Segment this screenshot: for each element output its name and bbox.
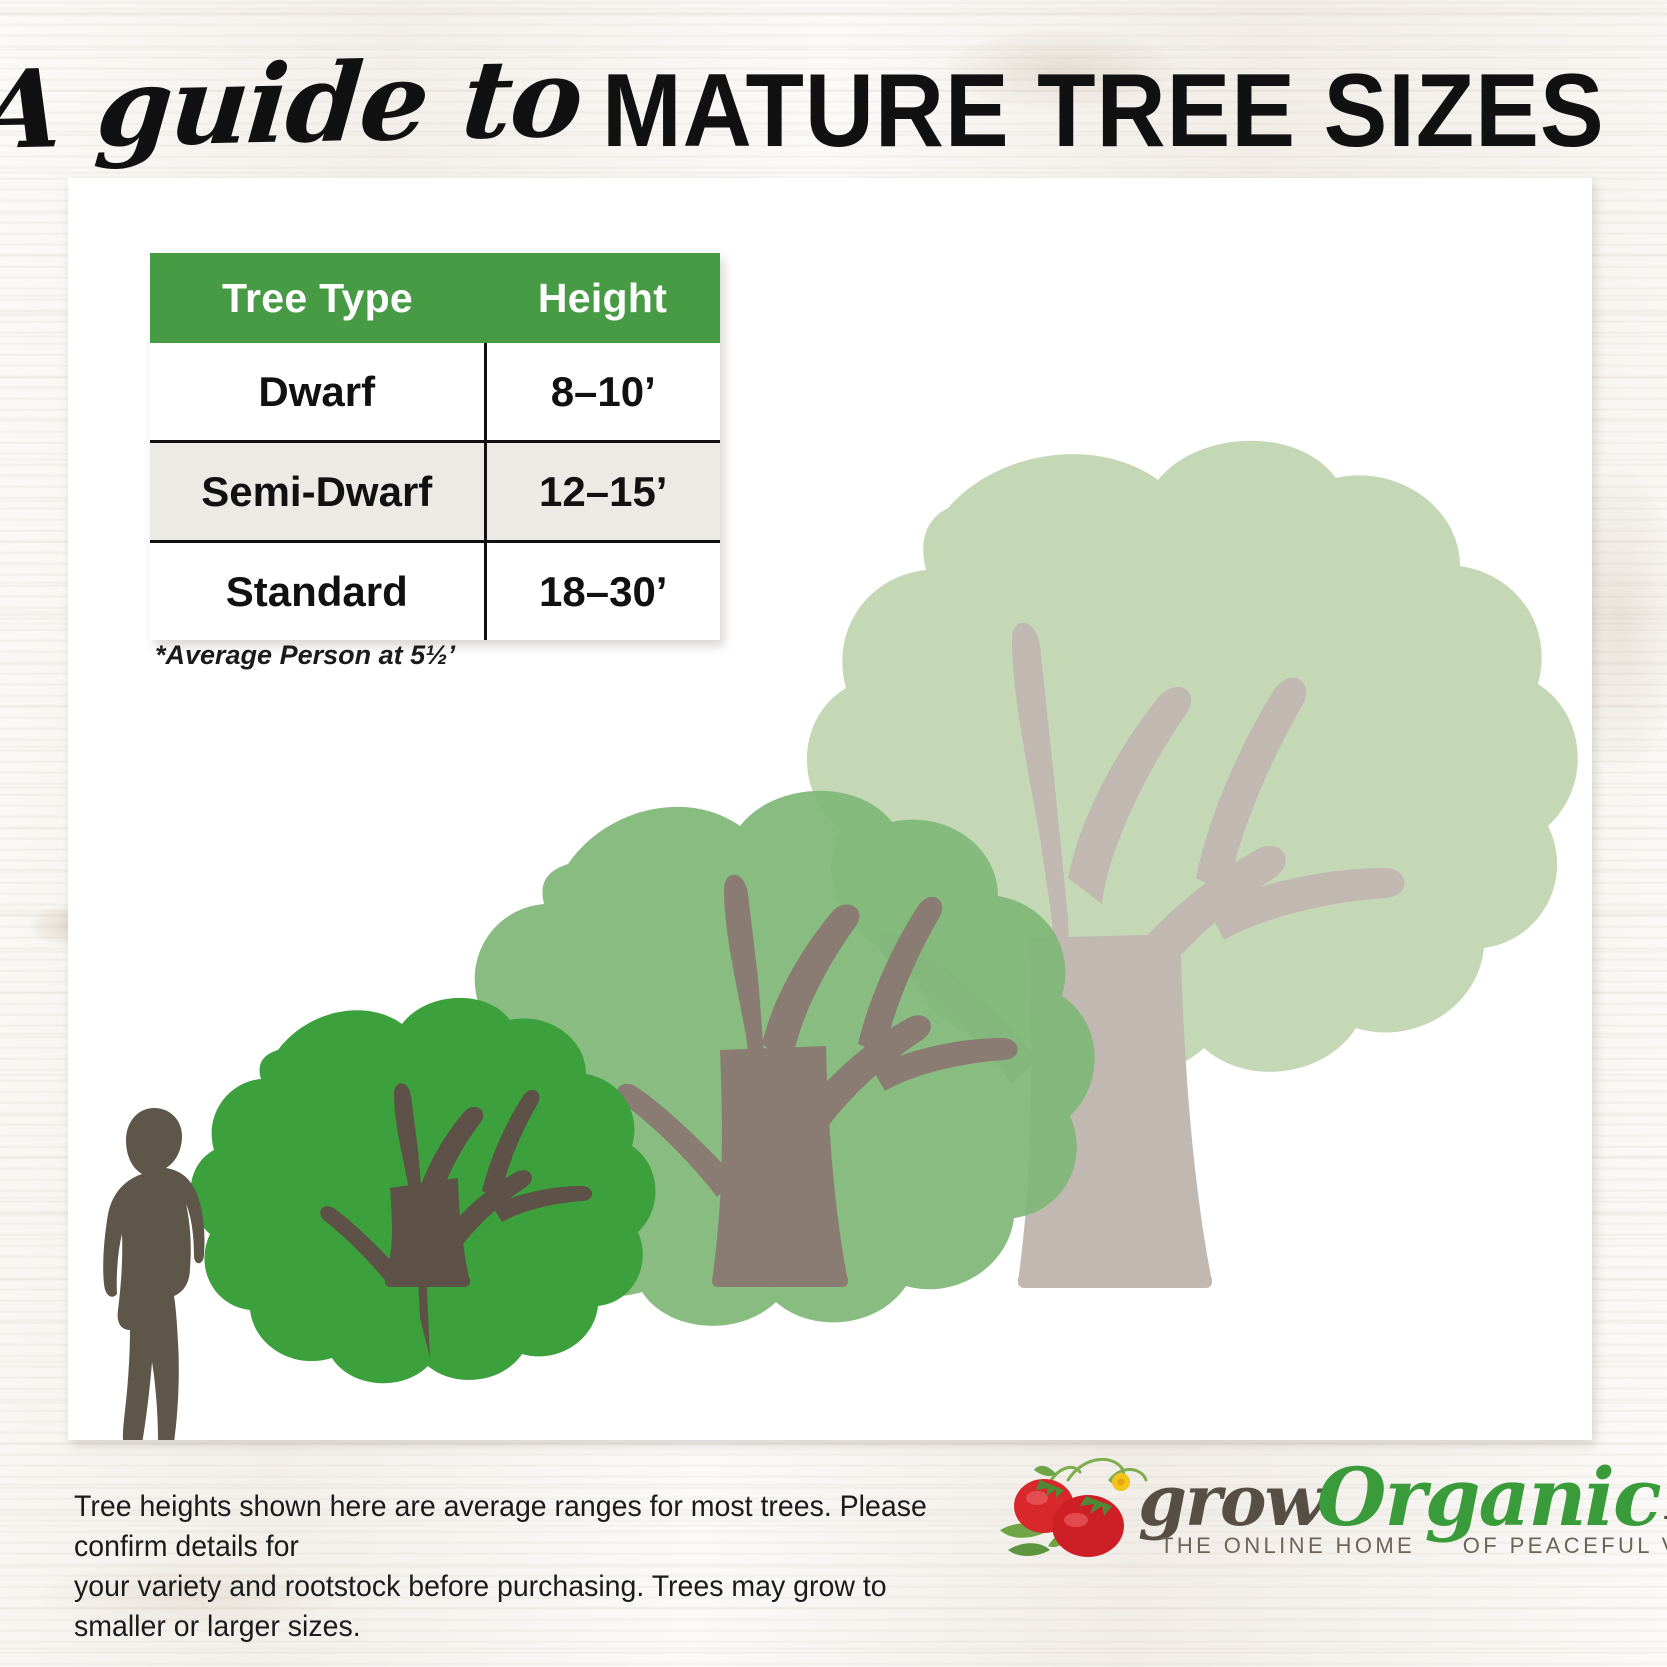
table-row: Dwarf 8–10’ [150, 343, 720, 442]
table-header-row: Tree Type Height [150, 253, 720, 343]
table-footnote: *Average Person at 5½’ [155, 640, 455, 671]
title-script-part: A guide to [0, 44, 586, 165]
disclaimer-text: Tree heights shown here are average rang… [74, 1487, 929, 1647]
disclaimer-line-2: your variety and rootstock before purcha… [74, 1567, 929, 1647]
tomato-icon [990, 1438, 1160, 1568]
brand-logo[interactable]: growOrganic.COM THE ONLINE HOME OF PEACE… [990, 1432, 1590, 1582]
logo-wordmark: growOrganic.COM [1138, 1450, 1667, 1544]
logo-tagline: THE ONLINE HOME OF PEACEFUL VALLEY [1160, 1533, 1667, 1559]
flower-icon [1112, 1473, 1130, 1491]
column-header-height: Height [485, 253, 720, 343]
table-row: Semi-Dwarf 12–15’ [150, 442, 720, 542]
cell-tree-type: Semi-Dwarf [150, 442, 485, 542]
tree-size-table: Tree Type Height Dwarf 8–10’ Semi-Dwarf … [150, 253, 720, 640]
title-block-part: MATURE TREE SIZES [602, 59, 1605, 163]
cell-height: 8–10’ [485, 343, 720, 442]
infographic-canvas: A guide toMATURE TREE SIZES [0, 0, 1667, 1667]
logo-tagline-left: THE ONLINE HOME [1160, 1533, 1415, 1558]
table-row: Standard 18–30’ [150, 542, 720, 641]
cell-tree-type: Standard [150, 542, 485, 641]
person-silhouette-icon [103, 1108, 204, 1440]
logo-word-organic: Organic [1317, 1450, 1660, 1544]
page-title: A guide toMATURE TREE SIZES [0, 52, 1667, 170]
cell-tree-type: Dwarf [150, 343, 485, 442]
logo-tld: .COM [1662, 1494, 1667, 1526]
cell-height: 12–15’ [485, 442, 720, 542]
column-header-tree-type: Tree Type [150, 253, 485, 343]
logo-tagline-right: OF PEACEFUL VALLEY [1463, 1533, 1667, 1558]
logo-word-grow: grow [1138, 1459, 1323, 1542]
cell-height: 18–30’ [485, 542, 720, 641]
disclaimer-line-1: Tree heights shown here are average rang… [74, 1490, 927, 1563]
